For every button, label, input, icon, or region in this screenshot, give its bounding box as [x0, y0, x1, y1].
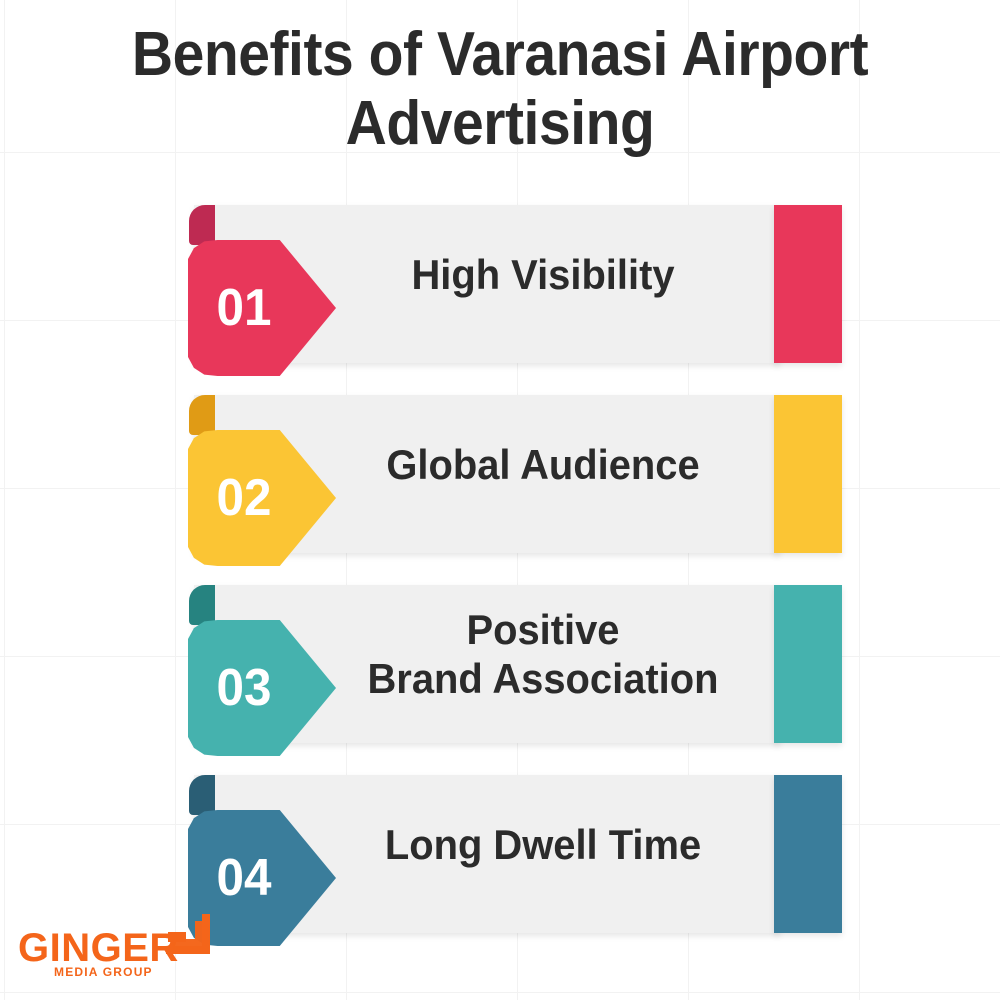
benefit-row[interactable]: Global Audience 02 [188, 386, 842, 566]
benefit-label: Positive Brand Association [334, 576, 752, 734]
nested-square-spiral-icon [164, 912, 210, 958]
benefit-number: 03 [191, 620, 297, 756]
brand-logo[interactable]: GINGER MEDIA GROUP [18, 900, 228, 982]
benefit-row[interactable]: Positive Brand Association 03 [188, 576, 842, 756]
logo-wordmark: GINGER [18, 928, 179, 968]
logo-tagline: MEDIA GROUP [54, 966, 153, 978]
benefit-row[interactable]: Long Dwell Time 04 [188, 766, 842, 946]
tag-fold [189, 395, 215, 435]
benefit-label: High Visibility [334, 196, 752, 354]
benefit-accent-block [774, 205, 842, 363]
benefit-accent-block [774, 585, 842, 743]
benefit-row[interactable]: High Visibility 01 [188, 196, 842, 376]
benefit-number: 01 [191, 240, 297, 376]
infographic-canvas: Benefits of Varanasi Airport Advertising… [0, 0, 1000, 1000]
tag-fold [189, 205, 215, 245]
benefit-label: Long Dwell Time [334, 766, 752, 924]
tag-fold [189, 775, 215, 815]
benefit-label: Global Audience [334, 386, 752, 544]
benefit-number: 02 [191, 430, 297, 566]
benefit-accent-block [774, 775, 842, 933]
page-title: Benefits of Varanasi Airport Advertising [40, 20, 960, 159]
tag-fold [189, 585, 215, 625]
benefit-accent-block [774, 395, 842, 553]
